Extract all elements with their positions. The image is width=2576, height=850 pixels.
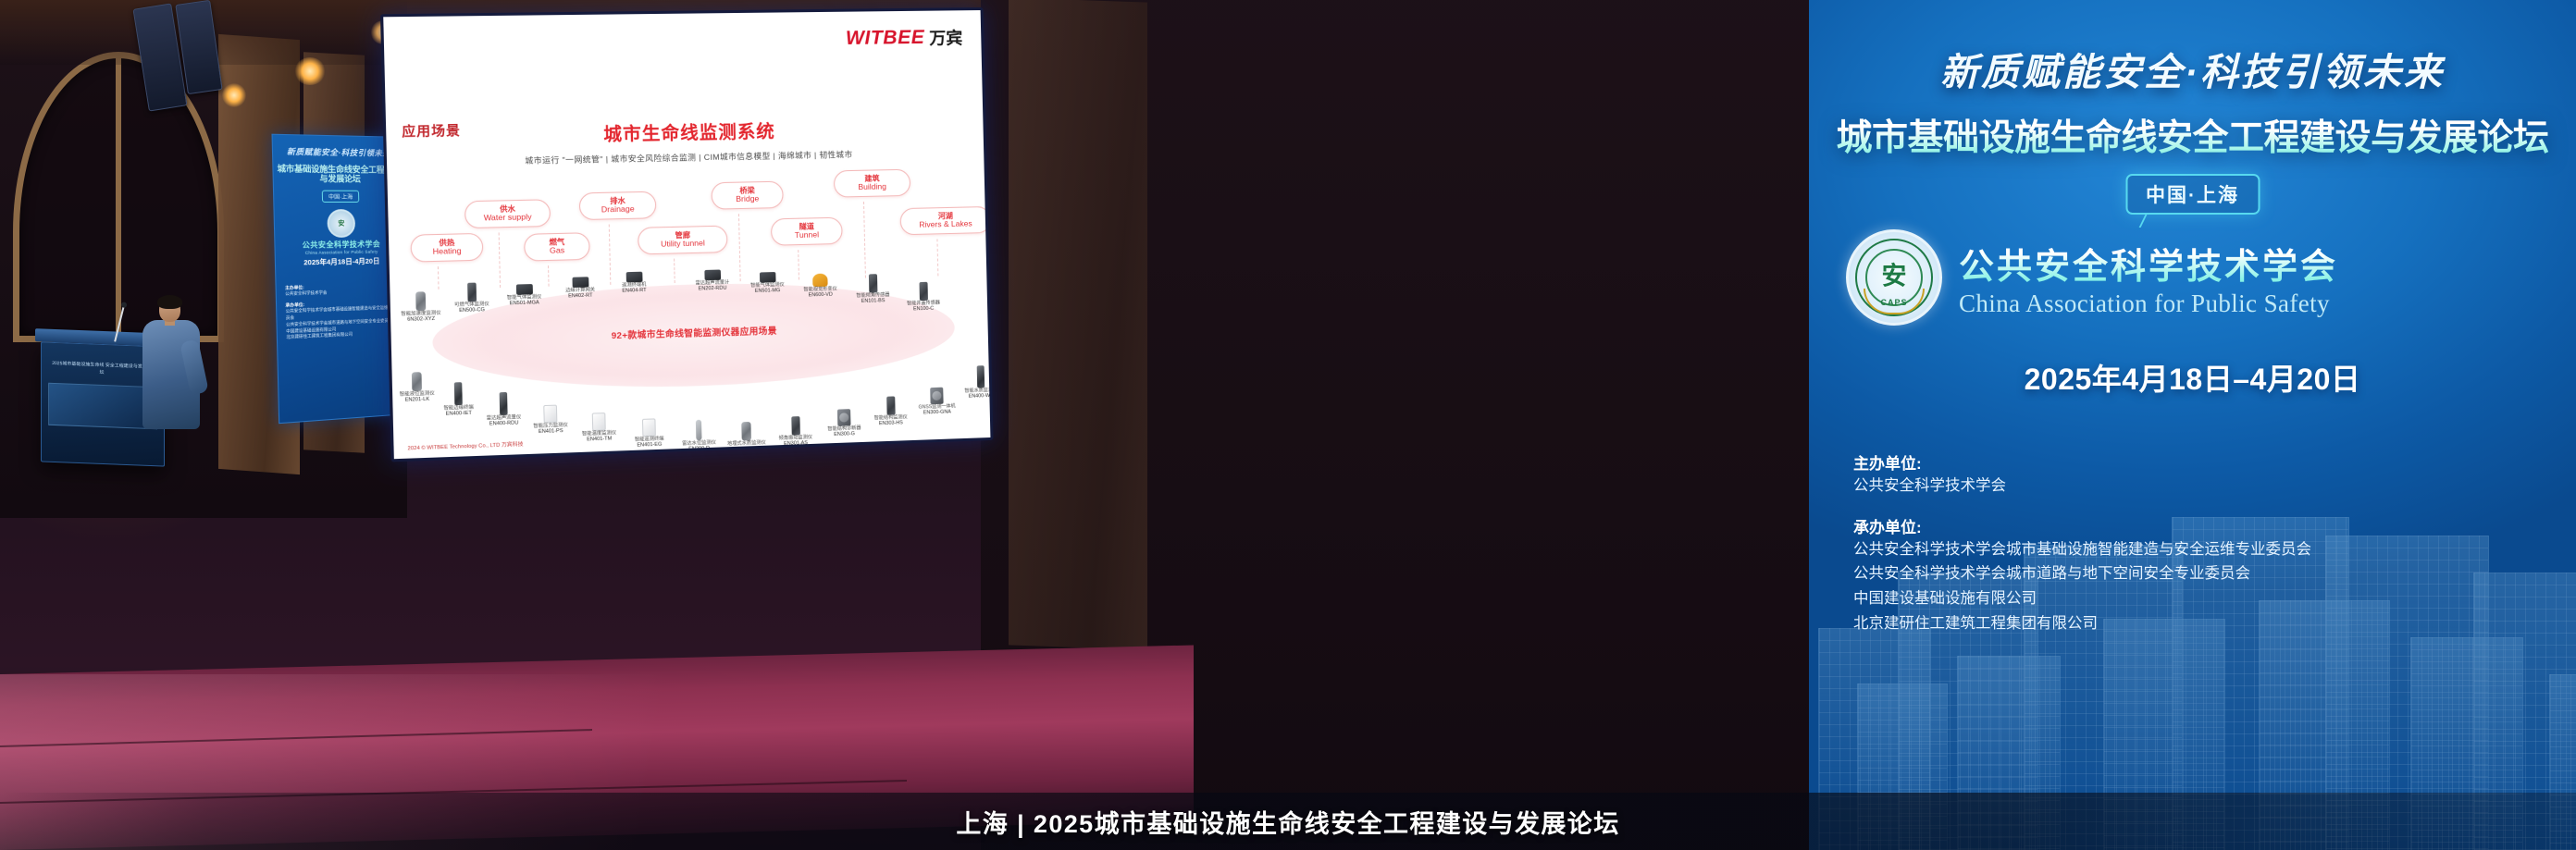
device-icon	[952, 363, 991, 388]
device-shape	[977, 365, 985, 388]
scenario-bubble: 桥梁Bridge	[711, 181, 783, 210]
backdrop-organizers: 主办单位: 公共安全科学技术学会 承办单位: 公共安全科学技术学会城市基础设施智…	[285, 277, 403, 341]
witbee-logo-cn: 万宾	[929, 25, 963, 50]
device-item: 智能气体监测仪EN501-MGA	[493, 269, 554, 308]
scenario-label-en: Drainage	[588, 204, 647, 215]
scenario-label-en: Building	[843, 182, 901, 192]
device-row-bottom: 智能液位监测仪EN201-LK智能边缘终端EN400-IET雷达超声流量仪EN4…	[383, 10, 980, 17]
device-shape	[500, 392, 508, 415]
scenario-label-en: Bridge	[721, 194, 774, 204]
device-icon	[550, 262, 610, 288]
scenario-bubble: 供热Heating	[410, 233, 483, 263]
slide-title: 城市生命线监测系统	[386, 114, 984, 150]
scenario-label-en: Rivers & Lakes	[910, 219, 982, 230]
host-heading: 主办单位:	[1853, 450, 2552, 474]
device-item: 遥测终端机EN404-RT	[603, 257, 663, 296]
caps-seal-icon: 安	[327, 209, 355, 238]
lower-third-caption: 上海 | 2025城市基础设施生命线安全工程建设与发展论坛	[0, 793, 2576, 850]
organizer-heading: 承办单位:	[1853, 514, 2552, 537]
bubble-connector	[674, 259, 675, 283]
device-shape	[930, 388, 943, 405]
scenario-bubble: 燃气Gas	[524, 232, 590, 261]
organizer-line: 北京建研住工建筑工程集团有限公司	[1853, 611, 2552, 636]
spotlight-b	[294, 57, 326, 85]
backdrop-main-title: 城市基础设施生命线安全工程建设与发展论坛	[277, 165, 402, 184]
device-item: 雷达超声流量计EN202-RDU	[682, 255, 742, 293]
device-shape	[886, 396, 896, 414]
banner-main-title: 城市基础设施生命线安全工程建设与发展论坛	[1809, 109, 2576, 161]
scenario-label-en: Utility tunnel	[648, 239, 719, 250]
device-shape	[543, 405, 557, 424]
device-icon	[682, 255, 741, 281]
speaker-hair	[157, 295, 182, 309]
witbee-logo-main: WITBEE	[846, 27, 925, 50]
device-shape	[741, 422, 751, 441]
backdrop-calligraphy: 新质赋能安全·科技引领未来	[278, 145, 399, 158]
device-icon	[493, 269, 554, 295]
led-frame: WITBEE 万宾 应用场景 城市生命线监测系统 城市运行 "一网统管" | 城…	[380, 7, 994, 462]
scenario-label-en: Water supply	[475, 213, 541, 224]
witbee-logo: WITBEE 万宾	[846, 25, 963, 51]
banner-calligraphy: 新质赋能安全·科技引领未来	[1809, 41, 2576, 96]
speaker-person	[139, 298, 207, 437]
device-item: 智能倾角传感器EN101-BS	[843, 267, 901, 305]
device-shape	[812, 274, 828, 288]
device-code: EN400-WQ	[952, 393, 990, 401]
led-screen: WITBEE 万宾 应用场景 城市生命线监测系统 城市运行 "一网统管" | 城…	[403, 7, 988, 440]
device-code: 6N302-XYZ	[390, 316, 452, 325]
seal-glyph: 安	[1882, 256, 1907, 292]
banner-date: 2025年4月18日–4月20日	[1809, 356, 2576, 399]
scenario-bubble: 管廊Utility tunnel	[638, 226, 728, 255]
banner-organizers: 主办单位: 公共安全科学技术学会 承办单位: 公共安全科学技术学会城市基础设施智…	[1853, 435, 2552, 636]
device-icon	[790, 262, 849, 288]
device-icon	[843, 267, 901, 293]
device-shape	[759, 272, 775, 283]
device-code: EN303-HS	[862, 420, 921, 428]
host-line: 公共安全科学技术学会	[1853, 474, 2552, 499]
device-icon	[737, 257, 797, 283]
association-name-en: China Association for Public Safety	[1959, 289, 2338, 318]
screenshot-root: 新质赋能安全·科技引领未来 城市基础设施生命线安全工程建设与发展论坛 中国·上海…	[0, 0, 2576, 850]
scenario-label-en: Gas	[534, 246, 580, 256]
device-shape	[704, 270, 721, 281]
device-shape	[592, 413, 606, 431]
banner-association: 安 CAPS 公共安全科学技术学会 China Association for …	[1846, 229, 2539, 326]
association-text: 公共安全科学技术学会 China Association for Public …	[1959, 238, 2338, 318]
led-inner: WITBEE 万宾 应用场景 城市生命线监测系统 城市运行 "一网统管" | 城…	[383, 10, 990, 459]
device-shape	[791, 416, 800, 436]
device-code: EN100-C	[895, 305, 952, 314]
device-shape	[415, 291, 426, 311]
caps-seal-icon: 安 CAPS	[1846, 229, 1942, 326]
scenario-bubble: 隧道Tunnel	[771, 217, 843, 246]
device-shape	[515, 284, 532, 295]
spotlight-a	[222, 83, 246, 107]
slide-subtitle: 城市运行 "一网统管" | 城市安全风险综合监测 | CIM城市信息模型 | 海…	[387, 146, 984, 169]
scenario-bubble: 建筑Building	[834, 169, 910, 198]
organizer-line: 公共安全科学技术学会城市基础设施智能建造与安全运维专业委员会	[1853, 537, 2552, 562]
device-shape	[919, 282, 928, 301]
backdrop-location-chip: 中国·上海	[322, 191, 360, 203]
bubble-connector	[863, 202, 866, 278]
device-shape	[572, 277, 588, 288]
organizer-line: 公共安全科学技术学会城市道路与地下空间安全专业委员会	[1853, 561, 2552, 586]
conference-banner: 新质赋能安全·科技引领未来 城市基础设施生命线安全工程建设与发展论坛 中国·上海…	[1809, 0, 2576, 850]
device-shape	[454, 382, 463, 405]
scenario-label-en: Tunnel	[780, 230, 833, 240]
device-code: EN300-GNA	[909, 409, 966, 417]
device-shape	[467, 283, 477, 302]
organizer-line: 中国建设基础设施有限公司	[1853, 586, 2552, 611]
caption-text: 上海 | 2025城市基础设施生命线安全工程建设与发展论坛	[956, 804, 1619, 840]
device-shape	[696, 420, 702, 441]
device-item: 边缘计算网关EN402-RT	[550, 262, 611, 301]
device-icon	[603, 257, 663, 283]
device-shape	[642, 418, 656, 437]
device-shape	[625, 272, 642, 283]
device-item: 智能井盖传感器EN100-C	[894, 276, 952, 314]
device-shape	[837, 409, 851, 426]
association-name-cn: 公共安全科学技术学会	[1959, 238, 2338, 289]
slide-footer: 2024 © WITBEE Technology Co., LTD 万宾科技	[407, 440, 523, 452]
seal-wreath	[1864, 289, 1925, 314]
scenario-label-en: Heating	[420, 247, 473, 257]
banner-location-chip: 中国·上海	[2125, 174, 2260, 215]
bubble-connector	[936, 239, 938, 276]
device-shape	[868, 274, 877, 292]
scenario-bubble: 河湖Rivers & Lakes	[899, 206, 990, 235]
device-item: 智能视觉形变仪EN600-VD	[790, 262, 849, 300]
device-row-top: 智能加速度监测仪6N302-XYZ可燃气体监测仪EN500-CG智能气体监测仪E…	[383, 10, 980, 17]
wall-panel-right	[1009, 0, 1147, 650]
device-item: 智能水质监测仪EN400-WQ	[952, 363, 991, 400]
scenario-bubble: 排水Drainage	[579, 191, 657, 220]
scenario-bubble: 供水Water supply	[464, 199, 551, 228]
device-shape	[412, 372, 422, 391]
presentation-slide: WITBEE 万宾 应用场景 城市生命线监测系统 城市运行 "一网统管" | 城…	[383, 10, 990, 459]
device-code: EN300-G	[815, 431, 873, 439]
device-item: 智能气体监测仪EN501-MG	[737, 257, 797, 295]
device-icon	[894, 276, 952, 302]
